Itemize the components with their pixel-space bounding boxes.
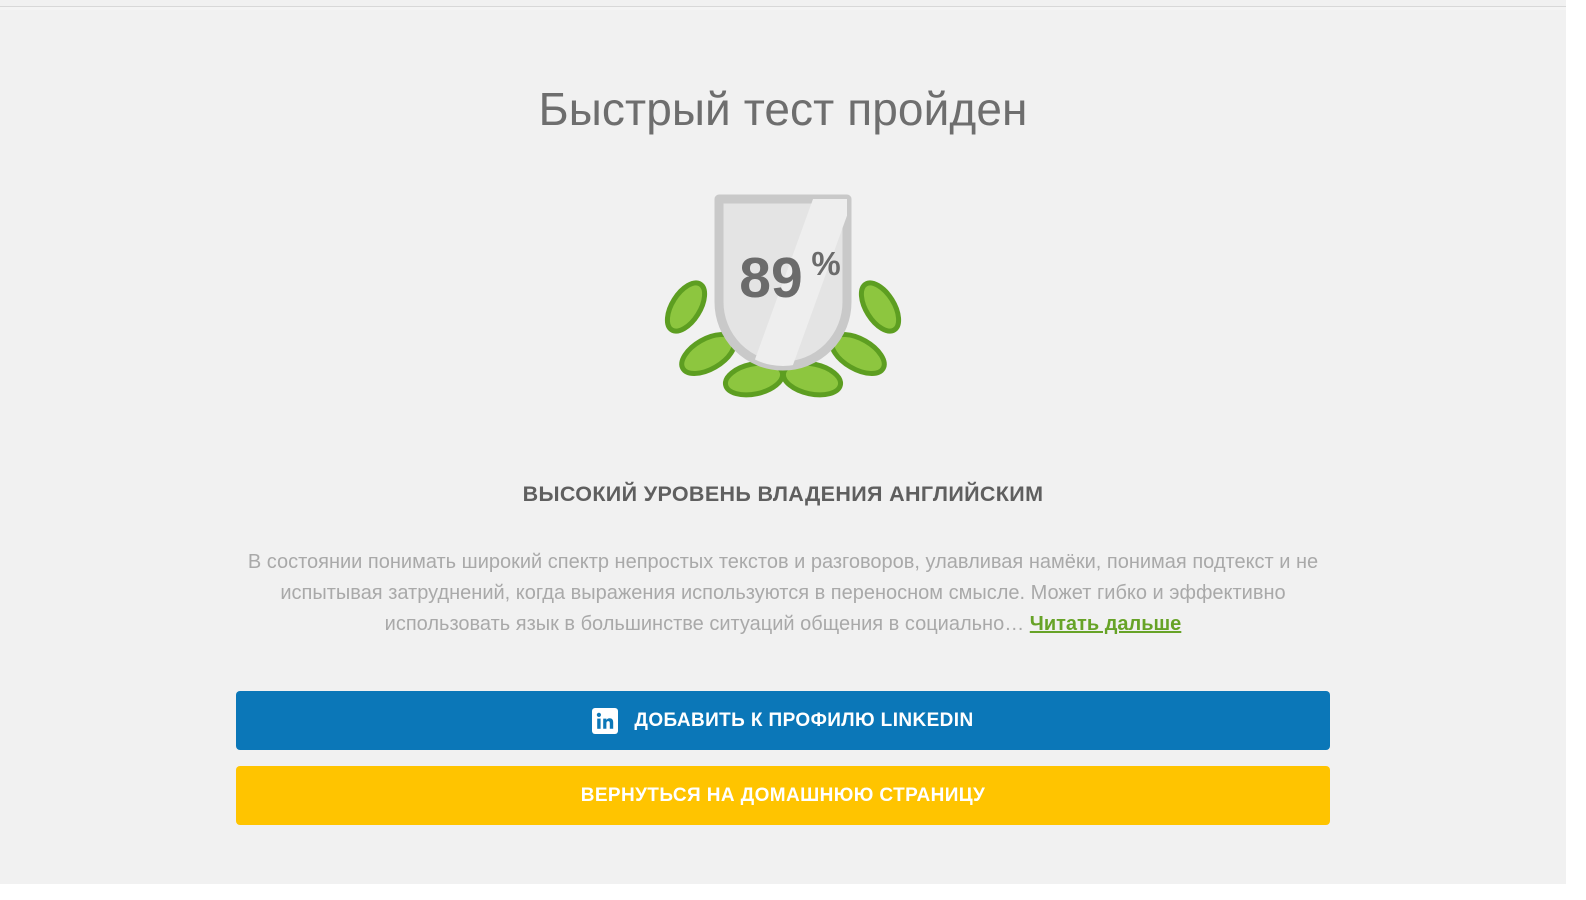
return-home-label: ВЕРНУТЬСЯ НА ДОМАШНЮЮ СТРАНИЦУ: [581, 785, 986, 807]
page-viewport: Быстрый тест пройден: [0, 0, 1566, 884]
action-buttons: ДОБАВИТЬ К ПРОФИЛЮ LINKEDIN ВЕРНУТЬСЯ НА…: [236, 691, 1330, 825]
browser-top-edge: [0, 0, 1566, 7]
shield-laurel-icon: 89 %: [653, 187, 913, 402]
level-description: В состоянии понимать широкий спектр непр…: [233, 547, 1333, 640]
page-title: Быстрый тест пройден: [0, 10, 1566, 132]
result-page-content: Быстрый тест пройден: [0, 10, 1566, 884]
linkedin-icon: [592, 708, 618, 734]
score-value: 89: [739, 246, 802, 310]
page-right-gutter: [1566, 0, 1586, 900]
return-home-button[interactable]: ВЕРНУТЬСЯ НА ДОМАШНЮЮ СТРАНИЦУ: [236, 766, 1330, 825]
add-to-linkedin-profile-button[interactable]: ДОБАВИТЬ К ПРОФИЛЮ LINKEDIN: [236, 691, 1330, 750]
score-percent-sign: %: [811, 245, 840, 282]
page-bottom-gutter: [0, 884, 1586, 900]
read-more-link[interactable]: Читать дальше: [1030, 613, 1182, 635]
add-to-linkedin-profile-label: ДОБАВИТЬ К ПРОФИЛЮ LINKEDIN: [634, 710, 973, 732]
level-title: ВЫСОКИЙ УРОВЕНЬ ВЛАДЕНИЯ АНГЛИЙСКИМ: [0, 402, 1566, 507]
score-badge: 89 %: [653, 187, 913, 402]
